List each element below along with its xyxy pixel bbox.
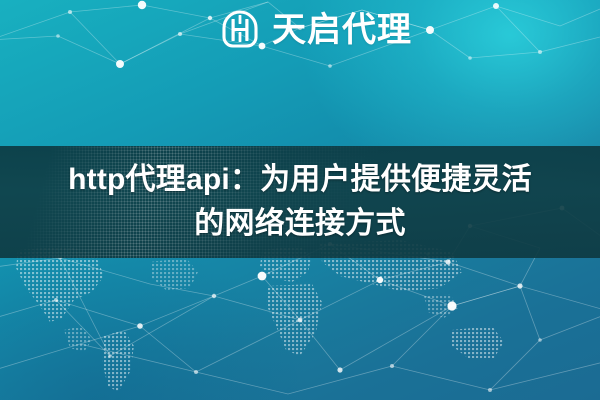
bottom-left-shadow (0, 240, 310, 400)
tianqi-circular-monogram-icon (216, 6, 264, 54)
promotional-banner: http代理api：为用户提供便捷灵活 的网络连接方式 天启代理 (0, 0, 600, 400)
headline-line-1: http代理api：为用户提供便捷灵活 (68, 158, 532, 202)
brand-name: 天启代理 (272, 6, 412, 54)
headline: http代理api：为用户提供便捷灵活 的网络连接方式 (0, 146, 600, 258)
headline-line-2: 的网络连接方式 (194, 202, 405, 246)
brand-logo: 天启代理 (216, 6, 412, 54)
